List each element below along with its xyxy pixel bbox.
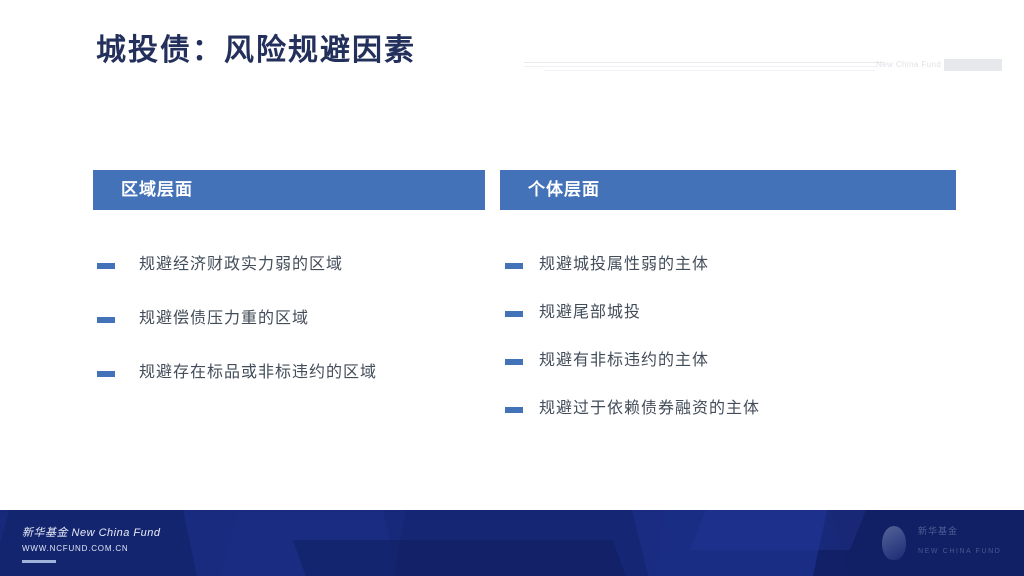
header-rule-2: [524, 66, 877, 67]
list-item-label: 规避存在标品或非标违约的区域: [139, 362, 377, 384]
column-header-regional: 区域层面: [93, 170, 485, 210]
footer-facet: [690, 510, 870, 550]
column-header-label: 区域层面: [121, 180, 193, 200]
column-header-label: 个体层面: [528, 180, 600, 200]
bullet-dash-icon: [505, 311, 523, 317]
header-rule-3: [544, 70, 875, 71]
logo-mark-icon: [882, 526, 906, 560]
list-item-label: 规避尾部城投: [539, 302, 641, 324]
header-watermark-block: [944, 59, 1002, 71]
logo-label-en: NEW CHINA FUND: [918, 548, 1001, 555]
list-item: 规避过于依赖债券融资的主体: [500, 398, 956, 420]
slide: 城投债：风险规避因素 New China Fund 区域层面 规避经济财政实力弱…: [0, 0, 1024, 576]
list-item: 规避存在标品或非标违约的区域: [93, 362, 485, 384]
list-item: 规避尾部城投: [500, 302, 956, 324]
slide-footer: 新华基金 New China Fund WWW.NCFUND.COM.CN 新华…: [0, 510, 1024, 576]
bullet-dash-icon: [505, 359, 523, 365]
bullet-dash-icon: [505, 407, 523, 413]
column-regional-level: 区域层面 规避经济财政实力弱的区域 规避偿债压力重的区域 规避存在标品或非标违约…: [93, 170, 485, 416]
bullet-list-individual: 规避城投属性弱的主体 规避尾部城投 规避有非标违约的主体 规避过于依赖债券融资的…: [500, 210, 956, 420]
list-item-label: 规避经济财政实力弱的区域: [139, 254, 343, 276]
list-item: 规避城投属性弱的主体: [500, 254, 956, 276]
column-individual-level: 个体层面 规避城投属性弱的主体 规避尾部城投 规避有非标违约的主体 规避过于依赖…: [500, 170, 956, 446]
footer-logo: 新华基金 NEW CHINA FUND: [878, 524, 1008, 564]
list-item: 规避有非标违约的主体: [500, 350, 956, 372]
page-title: 城投债：风险规避因素: [96, 30, 416, 72]
list-item-label: 规避过于依赖债券融资的主体: [539, 398, 760, 420]
footer-polygon-pattern: [0, 510, 1024, 576]
column-header-individual: 个体层面: [500, 170, 956, 210]
footer-brand-name: 新华基金 New China Fund: [22, 524, 161, 540]
bullet-dash-icon: [97, 263, 115, 269]
footer-accent-bar: [22, 560, 56, 563]
list-item-label: 规避有非标违约的主体: [539, 350, 709, 372]
bullet-dash-icon: [97, 317, 115, 323]
list-item: 规避经济财政实力弱的区域: [93, 254, 485, 276]
bullet-list-regional: 规避经济财政实力弱的区域 规避偿债压力重的区域 规避存在标品或非标违约的区域: [93, 210, 485, 384]
bullet-dash-icon: [97, 371, 115, 377]
list-item-label: 规避城投属性弱的主体: [539, 254, 709, 276]
list-item-label: 规避偿债压力重的区域: [139, 308, 309, 330]
header-decoration-lines: [524, 58, 884, 76]
header-rule-1: [524, 62, 884, 63]
footer-facet: [293, 540, 628, 576]
bullet-dash-icon: [505, 263, 523, 269]
logo-label-cn: 新华基金: [918, 526, 958, 536]
header-watermark-brand: New China Fund: [876, 60, 941, 69]
footer-website-url: WWW.NCFUND.COM.CN: [22, 544, 128, 553]
list-item: 规避偿债压力重的区域: [93, 308, 485, 330]
